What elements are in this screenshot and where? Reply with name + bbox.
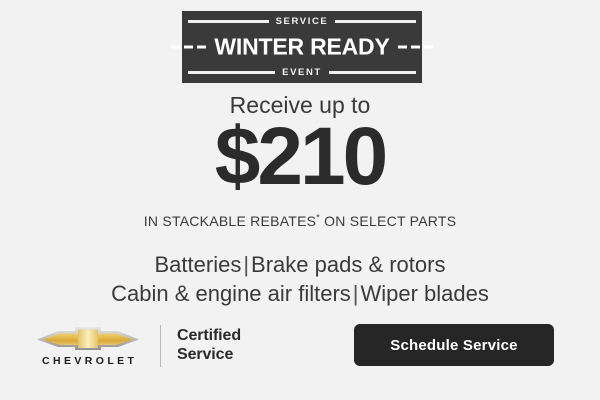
part-item: Cabin & engine air filters xyxy=(111,281,351,306)
offer-amount: $210 xyxy=(0,116,600,198)
banner-kicker-service: SERVICE xyxy=(182,17,422,27)
chevrolet-bowtie-icon xyxy=(36,326,140,351)
banner-kicker-event: EVENT xyxy=(182,68,422,78)
chevrolet-brand-mark: CHEVROLET xyxy=(32,326,144,367)
offer-footnote-marker: * xyxy=(316,212,320,222)
brand-divider xyxy=(160,325,161,367)
chevrolet-wordmark: CHEVROLET xyxy=(39,356,138,367)
banner-title-row: WINTER READY xyxy=(182,36,422,59)
part-item: Brake pads & rotors xyxy=(251,252,445,277)
banner-dashes-left-icon xyxy=(171,45,206,49)
banner-dashes-right-icon xyxy=(398,45,433,49)
part-item: Wiper blades xyxy=(361,281,489,306)
banner-kicker-service-label: SERVICE xyxy=(269,16,336,27)
certified-service-line-1: Certified xyxy=(177,327,241,346)
banner-kicker-event-label: EVENT xyxy=(275,67,329,78)
schedule-service-button[interactable]: Schedule Service xyxy=(354,324,554,366)
part-item: Batteries xyxy=(155,252,242,277)
parts-separator: | xyxy=(351,281,361,306)
covered-parts-list: Batteries|Brake pads & rotors Cabin & en… xyxy=(0,250,600,308)
event-banner: SERVICE WINTER READY EVENT xyxy=(182,11,422,83)
service-offer-ad: SERVICE WINTER READY EVENT Receive up to… xyxy=(0,0,600,400)
offer-rebate-line: IN STACKABLE REBATES* ON SELECT PARTS xyxy=(0,214,600,229)
covered-parts-line-2: Cabin & engine air filters|Wiper blades xyxy=(0,279,600,308)
parts-separator: | xyxy=(241,252,251,277)
offer-rebate-text: IN STACKABLE REBATES xyxy=(144,213,317,229)
banner-title: WINTER READY xyxy=(214,36,389,59)
offer-rebate-tail: ON SELECT PARTS xyxy=(324,213,456,229)
certified-service-line-2: Service xyxy=(177,346,241,365)
covered-parts-line-1: Batteries|Brake pads & rotors xyxy=(0,250,600,279)
certified-service-label: Certified Service xyxy=(177,327,241,365)
brand-lockup: CHEVROLET Certified Service xyxy=(32,318,241,374)
ad-footer: CHEVROLET Certified Service Schedule Ser… xyxy=(0,318,600,374)
